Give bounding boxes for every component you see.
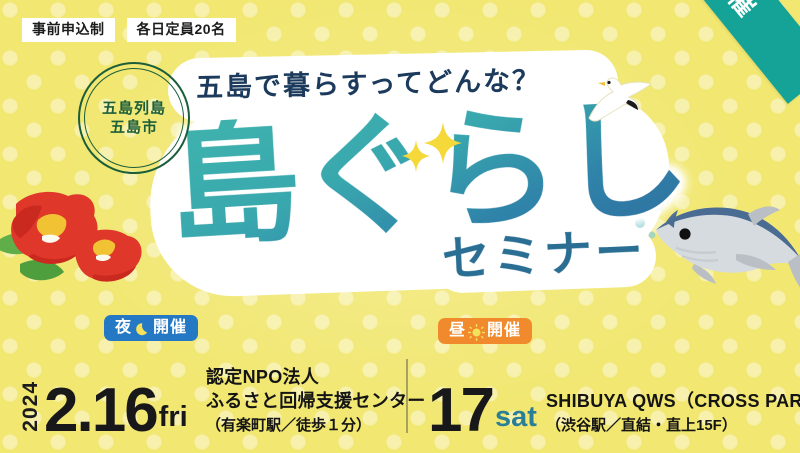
date-number-216: 2.16 — [44, 384, 157, 437]
subtitle-seminar: セミナー — [441, 227, 647, 284]
session-badge-prefix: 夜 — [115, 318, 132, 337]
camellia-flower-icon — [0, 186, 146, 313]
event-block-feb16: 夜 開催 2024 2.16 fri — [20, 381, 188, 437]
event-block-feb17: 昼 — [428, 384, 537, 437]
venue-line-2-left: ふるさと回帰支援センター — [206, 390, 426, 414]
event-poster: 事前申込制 各日定員20名 五島列島 五島市 東京開催 五島で暮らすってどんな？… — [0, 0, 800, 453]
stamp-text: 五島列島 五島市 — [78, 62, 190, 174]
goto-islands-stamp: 五島列島 五島市 — [78, 62, 190, 174]
stamp-line-1: 五島列島 — [102, 100, 166, 117]
venue-note-left: （有楽町駅／徒歩１分） — [206, 416, 426, 436]
venue-note-right: （渋谷駅／直結・直上15F） — [546, 416, 800, 436]
seagull-icon — [585, 72, 659, 129]
year-label-2024: 2024 — [20, 381, 41, 432]
session-badge-suffix: 開催 — [487, 321, 521, 340]
badge-advance-registration: 事前申込制 — [22, 18, 115, 42]
sun-icon — [468, 324, 485, 341]
badge-capacity: 各日定員20名 — [127, 18, 236, 42]
moon-icon — [134, 321, 151, 338]
session-badge-night: 夜 開催 — [104, 315, 198, 341]
top-badge-group: 事前申込制 各日定員20名 — [22, 18, 236, 42]
date-row-feb16: 2024 2.16 fri — [20, 381, 188, 437]
venue-block-left: 認定NPO法人 ふるさと回帰支援センター （有楽町駅／徒歩１分） — [206, 366, 426, 435]
venue-line-1-right: SHIBUYA QWS（CROSS PARK） — [546, 390, 800, 414]
date-number-17: 17 — [428, 384, 493, 437]
venue-line-1-left: 認定NPO法人 — [206, 366, 426, 390]
venue-block-right: SHIBUYA QWS（CROSS PARK） （渋谷駅／直結・直上15F） — [546, 390, 800, 435]
event-divider — [406, 359, 408, 433]
session-badge-suffix: 開催 — [153, 318, 187, 337]
session-badge-prefix: 昼 — [449, 321, 466, 340]
date-row-feb17: 17 sat — [428, 384, 537, 437]
day-of-week-sat: sat — [495, 403, 537, 432]
day-of-week-fri: fri — [159, 403, 188, 432]
stamp-line-2: 五島市 — [110, 119, 158, 136]
sparkle-icon-small — [402, 140, 430, 172]
session-badge-day: 昼 — [438, 318, 532, 344]
event-info-strip: 夜 開催 2024 2.16 fri 認定NPO法人 ふるさと回帰支援センター … — [0, 335, 800, 453]
